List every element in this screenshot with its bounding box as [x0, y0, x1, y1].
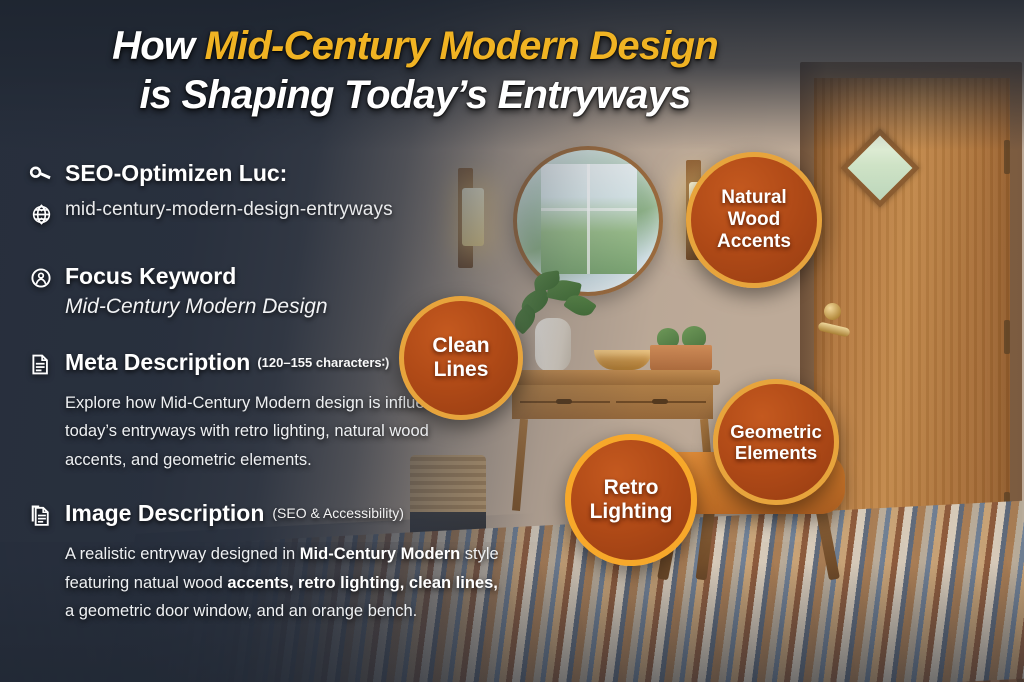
document-lines-icon — [26, 349, 56, 379]
meta-description-hint: (120–155 characters∶) — [257, 355, 389, 371]
globe-icon — [26, 199, 56, 229]
image-line-1a: A realistic entryway designed in — [65, 545, 300, 563]
focus-keyword-heading-row: Focus Keyword — [26, 263, 546, 293]
badge-line-2: Lighting — [590, 500, 673, 523]
focus-keyword-heading: Focus Keyword — [65, 263, 236, 289]
page-title: How Mid-Century Modern Design is Shaping… — [0, 22, 830, 120]
badge-natural-wood-accents[interactable]: Natural Wood Accents — [686, 152, 822, 288]
title-line-1: How Mid-Century Modern Design — [0, 22, 830, 71]
badge-line-3: Accents — [717, 231, 791, 252]
meta-line-1: Explore how Mid-Century Modern design is… — [65, 394, 469, 412]
badge-line-1: Natural — [721, 187, 786, 208]
image-description-heading-row: Image Description (SEO & Accessibility) — [26, 500, 546, 530]
badge-clean-lines[interactable]: Clean Lines — [399, 296, 523, 420]
image-line-3: a geometric door window, and an orange b… — [65, 602, 417, 620]
image-line-2b: accents, retro lighting, clean lines, — [227, 574, 498, 592]
badge-line-1: Retro — [604, 476, 659, 499]
meta-description-heading: Meta Description — [65, 349, 250, 375]
badge-label: Geometric Elements — [730, 421, 822, 464]
image-description-heading: Image Description — [65, 500, 264, 526]
seo-url-heading-row: SEO-Optimizen Luc: — [26, 160, 546, 190]
badge-line-2: Lines — [434, 358, 489, 381]
meta-line-3: accents, and geometric elements. — [65, 451, 312, 469]
image-line-2a: featuring natual wood — [65, 574, 227, 592]
image-line-1c: style — [460, 545, 499, 563]
badge-label: Retro Lighting — [590, 476, 673, 525]
target-person-icon — [26, 263, 56, 293]
badge-label: Clean Lines — [432, 334, 489, 383]
badge-line-1: Geometric — [730, 421, 822, 442]
image-line-1b: Mid-Century Modern — [300, 545, 460, 563]
title-prefix: How — [112, 24, 204, 68]
badge-geometric-elements[interactable]: Geometric Elements — [713, 379, 839, 505]
infographic-canvas: How Mid-Century Modern Design is Shaping… — [0, 0, 1024, 682]
document-copy-icon — [26, 500, 56, 530]
seo-slug-value: mid-century-modern-design-entryways — [65, 199, 393, 221]
badge-label: Natural Wood Accents — [717, 187, 791, 253]
badge-line-2: Wood — [728, 209, 780, 230]
image-description-hint: (SEO & Accessibility) — [272, 505, 403, 521]
image-description-body: A realistic entryway designed in Mid-Cen… — [65, 540, 546, 625]
badge-retro-lighting[interactable]: Retro Lighting — [565, 434, 697, 566]
title-line-2: is Shaping Today’s Entryways — [0, 71, 830, 120]
badge-line-1: Clean — [432, 334, 489, 357]
title-accent: Mid-Century Modern Design — [205, 24, 718, 68]
meta-line-2: today’s entryways with retro lighting, n… — [65, 422, 429, 440]
key-icon — [26, 160, 56, 190]
seo-slug-row: mid-century-modern-design-entryways — [26, 199, 546, 229]
badge-line-2: Elements — [735, 442, 817, 463]
seo-url-heading: SEO-Optimizen Luc: — [65, 160, 287, 186]
